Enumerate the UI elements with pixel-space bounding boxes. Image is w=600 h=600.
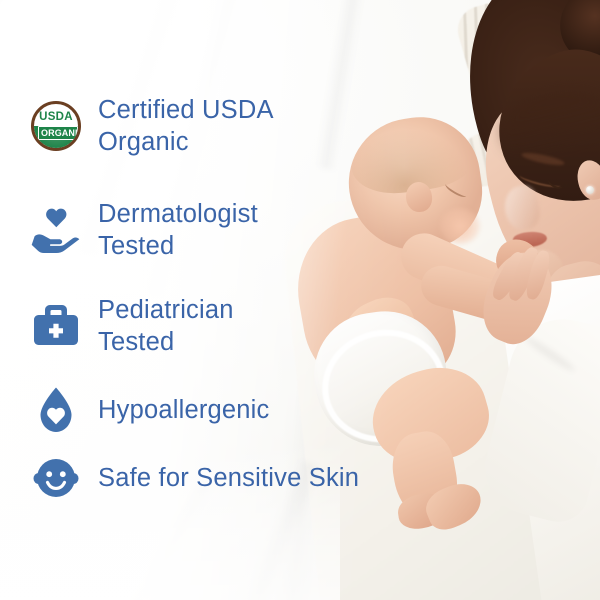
medical-bag-icon: [28, 303, 84, 349]
usda-seal-top-text: USDA: [34, 111, 78, 123]
usda-seal-bottom-text: ORGANIC: [41, 128, 75, 138]
benefit-label: Dermatologist Tested: [98, 198, 258, 262]
benefit-item-safe-for-sensitive-skin[interactable]: Safe for Sensitive Skin: [28, 456, 359, 500]
benefit-label: Pediatrician Tested: [98, 294, 234, 358]
benefit-label: Safe for Sensitive Skin: [98, 462, 359, 494]
benefit-label: Certified USDA Organic: [98, 94, 274, 158]
usda-organic-seal-icon: USDA ORGANIC: [28, 101, 84, 151]
water-drop-heart-icon: [28, 386, 84, 434]
hand-holding-heart-icon: [28, 205, 84, 255]
benefit-item-pediatrician-tested[interactable]: Pediatrician Tested: [28, 294, 234, 358]
marketing-graphic: USDA ORGANIC Certified USDA Organic Derm…: [0, 0, 600, 600]
benefit-item-certified-usda-organic[interactable]: USDA ORGANIC Certified USDA Organic: [28, 94, 274, 158]
baby-face-icon: [28, 456, 84, 500]
benefit-list: USDA ORGANIC Certified USDA Organic Derm…: [0, 0, 600, 600]
benefit-item-hypoallergenic[interactable]: Hypoallergenic: [28, 386, 269, 434]
benefit-label: Hypoallergenic: [98, 394, 269, 426]
benefit-item-dermatologist-tested[interactable]: Dermatologist Tested: [28, 198, 258, 262]
